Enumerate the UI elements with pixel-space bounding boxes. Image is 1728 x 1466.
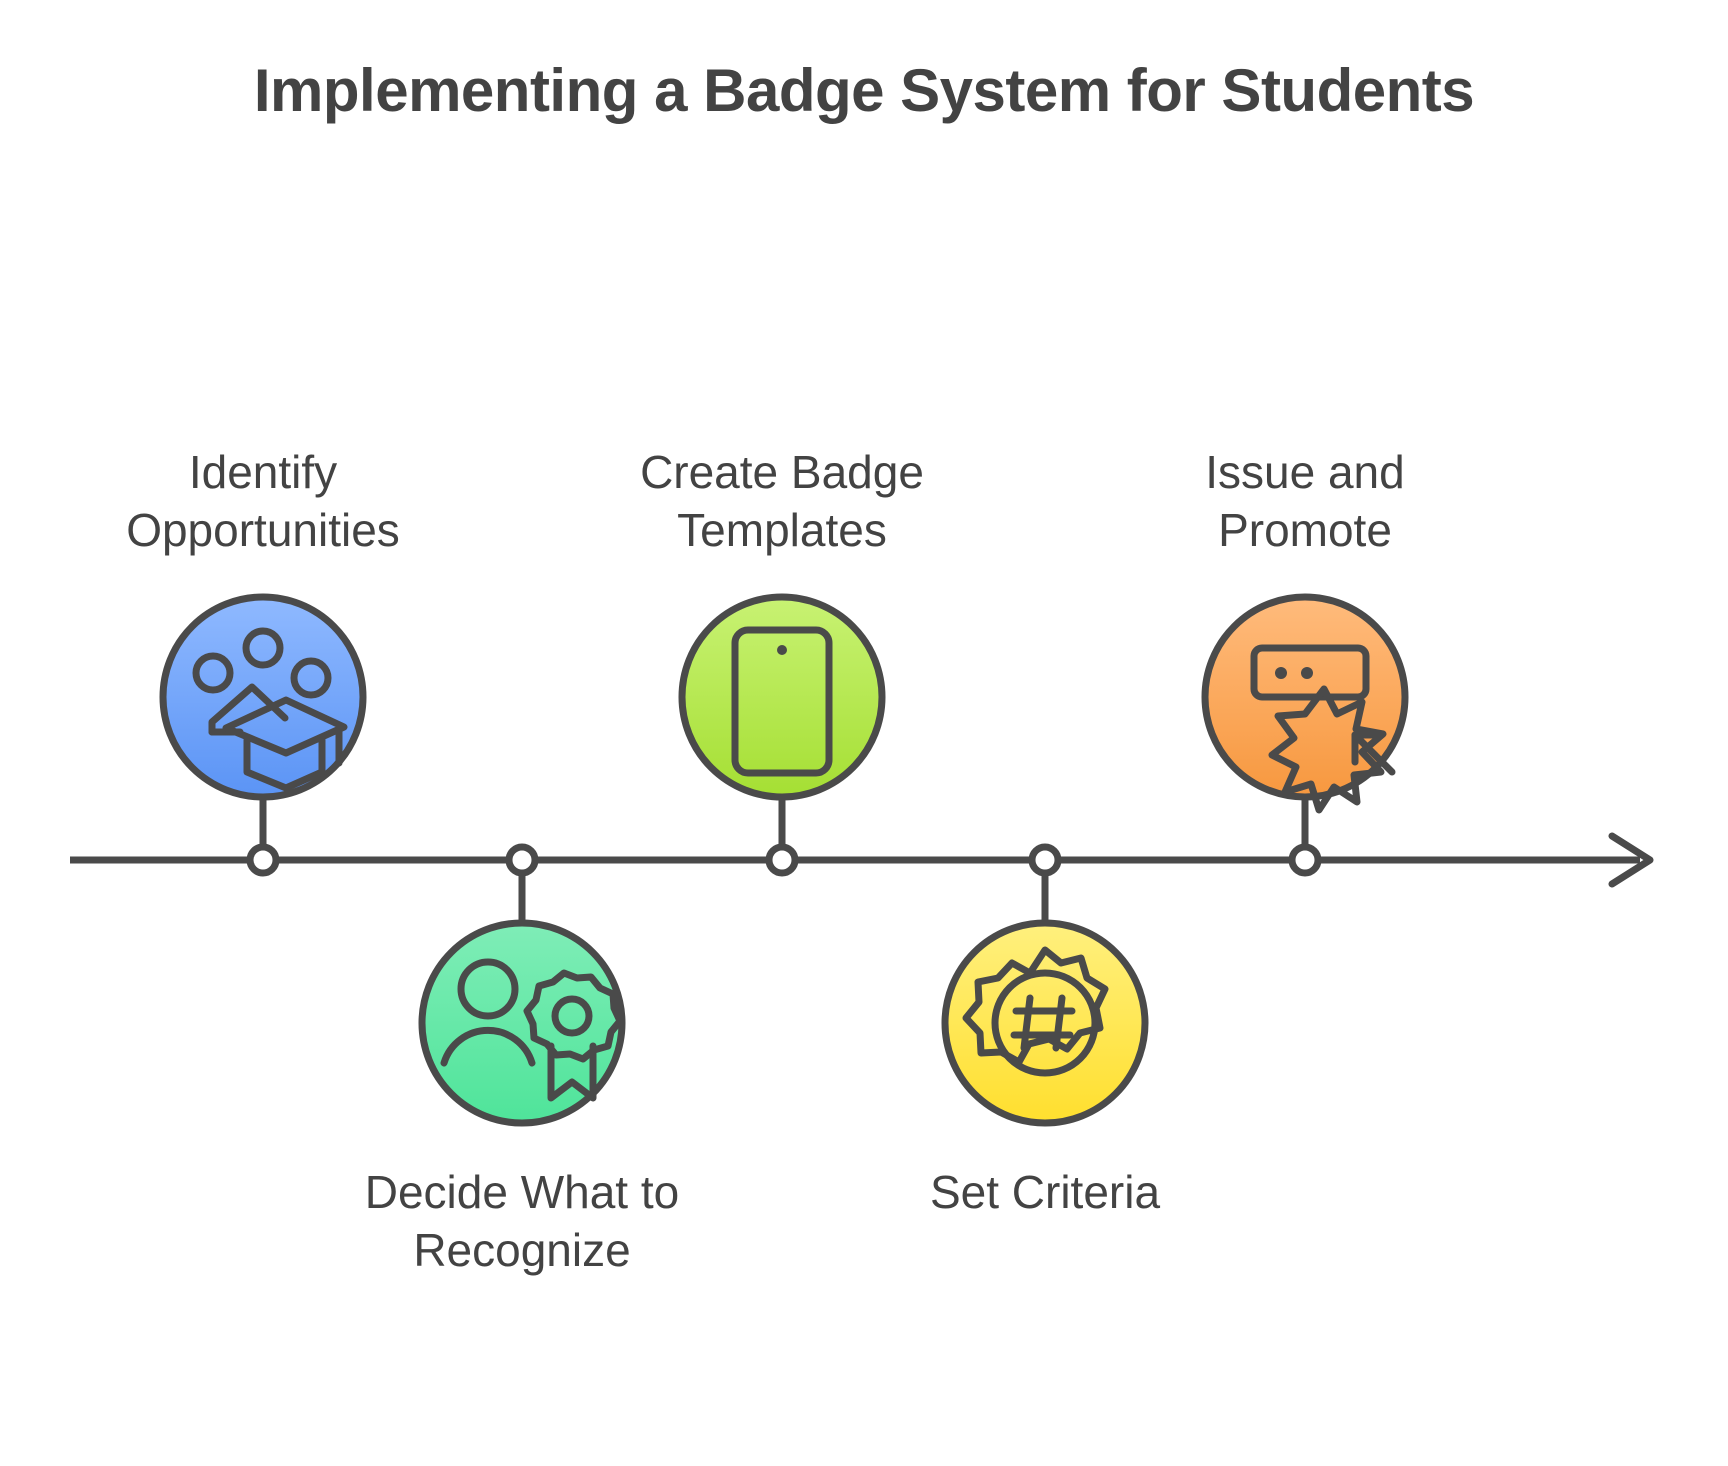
- axis-dot-identify-opportunities[interactable]: [250, 847, 276, 873]
- node-label-decide-what-to-recognize: Decide What to Recognize: [272, 1163, 772, 1280]
- node-label-identify-opportunities: Identify Opportunities: [13, 443, 513, 560]
- node-label-create-badge-templates: Create Badge Templates: [532, 443, 1032, 560]
- axis-dot-set-criteria[interactable]: [1032, 847, 1058, 873]
- timeline-node-set-criteria[interactable]: [945, 923, 1145, 1123]
- axis-dot-decide-what-to-recognize[interactable]: [509, 847, 535, 873]
- timeline-axis: [70, 836, 1650, 884]
- infographic-canvas: Implementing a Badge System for Students: [0, 0, 1728, 1466]
- node-label-set-criteria: Set Criteria: [795, 1163, 1295, 1221]
- timeline-diagram: [0, 0, 1728, 1466]
- timeline-node-create-badge-templates[interactable]: [682, 597, 882, 797]
- node-label-issue-and-promote: Issue and Promote: [1055, 443, 1555, 560]
- axis-dot-issue-and-promote[interactable]: [1292, 847, 1318, 873]
- axis-dot-create-badge-templates[interactable]: [769, 847, 795, 873]
- timeline-node-decide-what-to-recognize[interactable]: [422, 923, 622, 1123]
- timeline-node-issue-and-promote[interactable]: [1205, 597, 1405, 810]
- timeline-node-identify-opportunities[interactable]: [163, 597, 363, 797]
